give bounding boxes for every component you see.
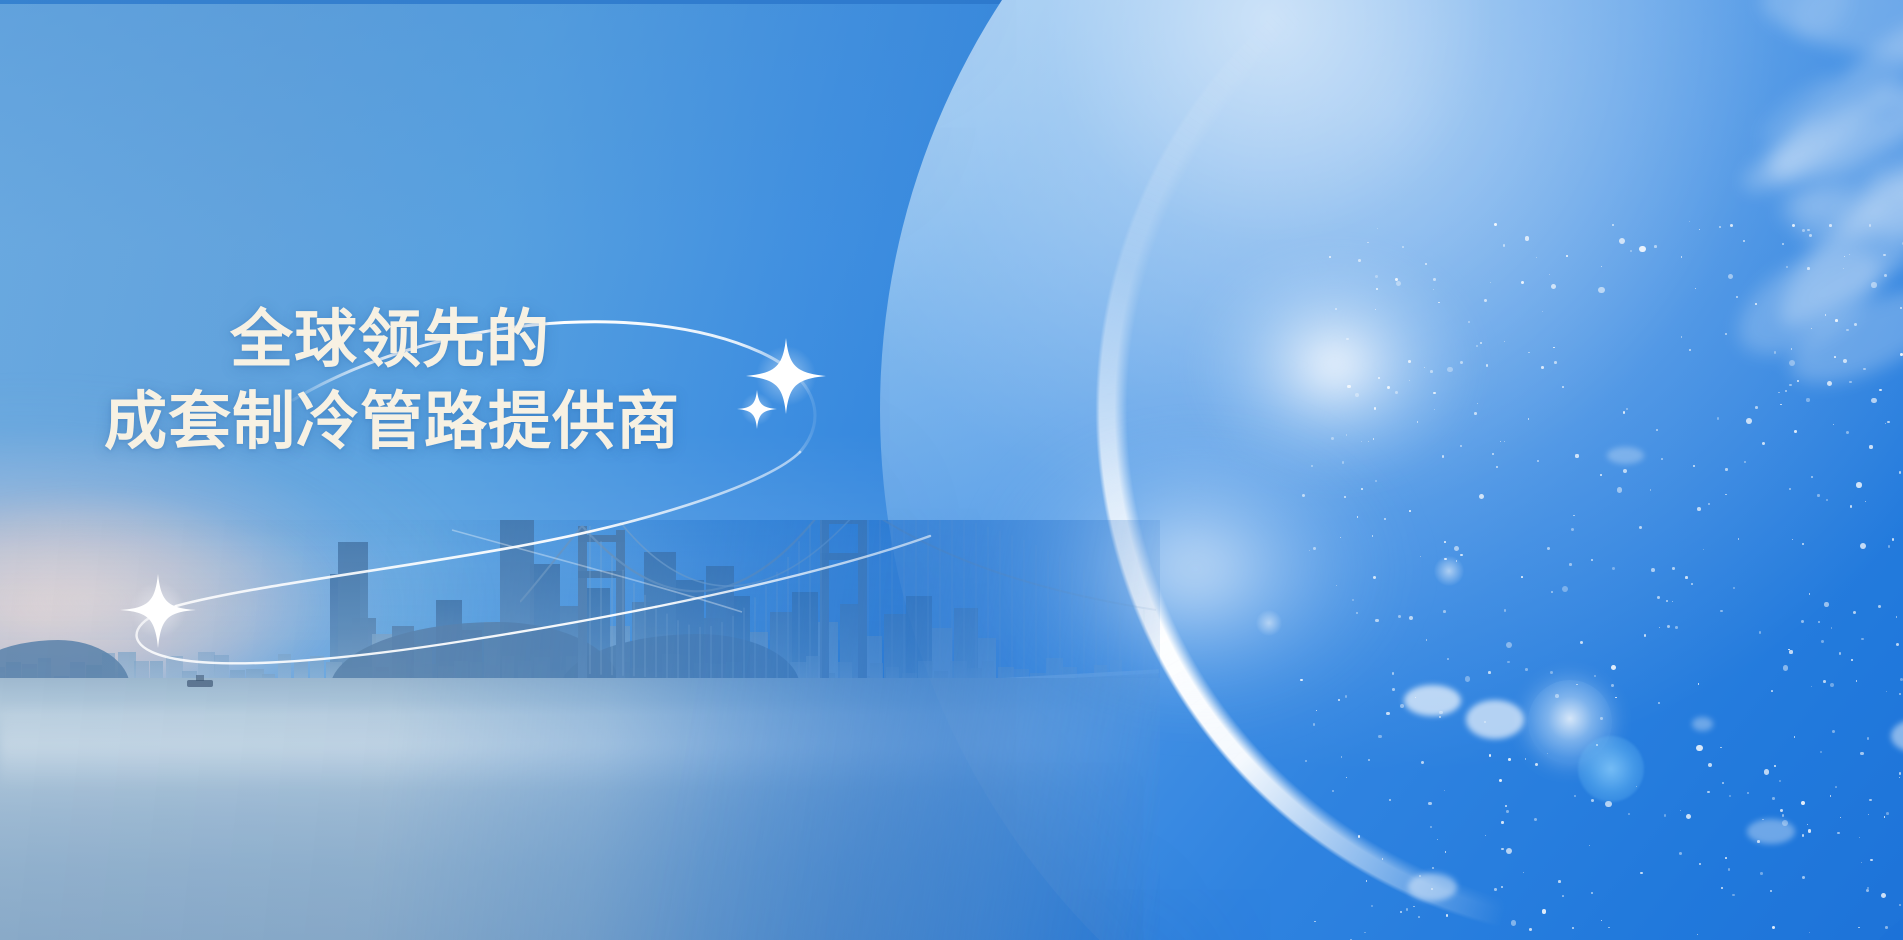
lens-flare-dot-b — [1256, 610, 1282, 636]
headline-line-2: 成套制冷管路提供商 — [104, 382, 824, 464]
hero-banner: 全球领先的 成套制冷管路提供商 — [0, 0, 1903, 940]
lens-flare-dot-a — [1434, 556, 1464, 586]
page-title: 全球领先的 成套制冷管路提供商 — [104, 300, 824, 464]
lens-flare-circle-small — [1578, 736, 1644, 802]
headline-line-1: 全球领先的 — [104, 300, 824, 382]
photo-blue-overlay — [0, 520, 1160, 940]
